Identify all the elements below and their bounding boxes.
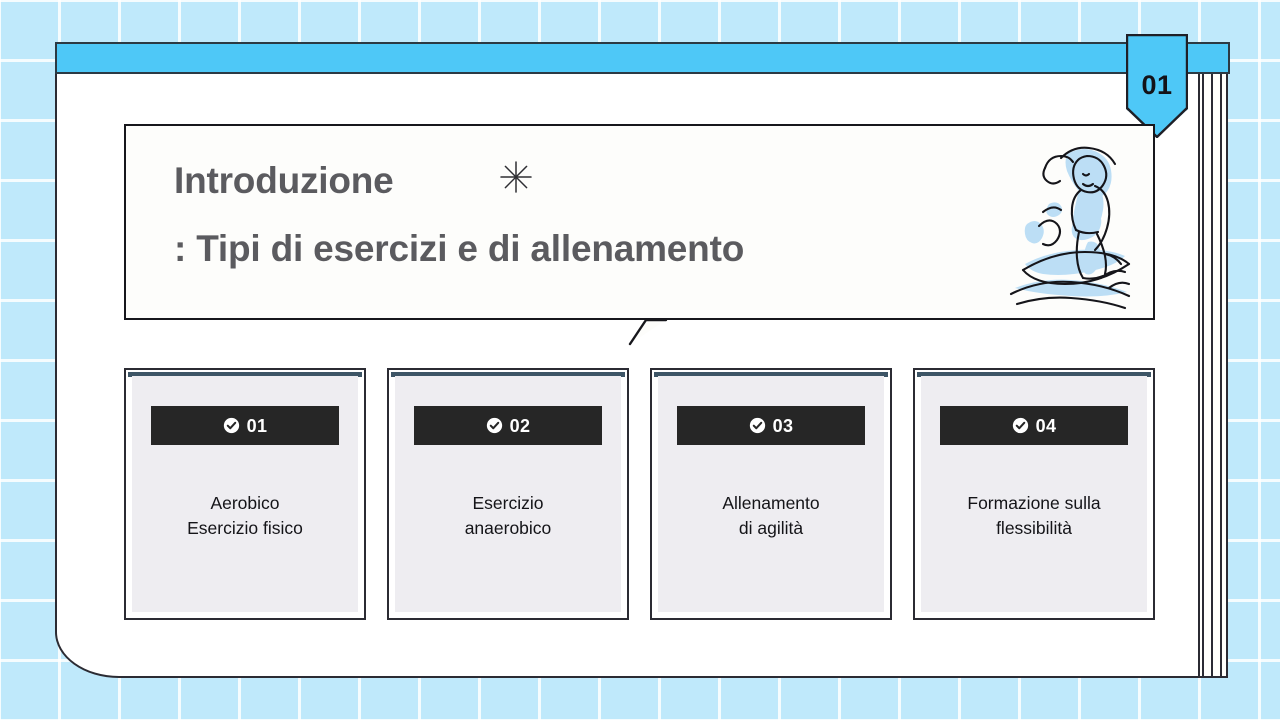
card-badge: 01 — [151, 406, 339, 445]
card-body: 02 Esercizio anaerobico — [395, 376, 621, 612]
card-item[interactable]: 01 Aerobico Esercizio fisico — [124, 368, 366, 620]
card-label-line-2: Esercizio fisico — [187, 516, 303, 541]
card-label-line-2: di agilità — [722, 516, 819, 541]
card-label: Formazione sulla flessibilità — [957, 491, 1110, 542]
card-number: 04 — [1036, 417, 1057, 435]
title-card: Introduzione : Tipi di esercizi e di all… — [124, 124, 1155, 320]
card-label-line-1: Aerobico — [187, 491, 303, 516]
cards-row: 01 Aerobico Esercizio fisico 02 — [124, 368, 1155, 620]
asterisk-icon — [499, 160, 533, 194]
card-body: 01 Aerobico Esercizio fisico — [132, 376, 358, 612]
card-item[interactable]: 04 Formazione sulla flessibilità — [913, 368, 1155, 620]
slide-canvas: 01 Introduzione : Tipi di esercizi e di … — [0, 0, 1280, 720]
card-number: 03 — [773, 417, 794, 435]
card-label-line-2: flessibilità — [967, 516, 1100, 541]
page-stack-sheet — [1220, 44, 1222, 676]
card-label-line-1: Formazione sulla — [967, 491, 1100, 516]
card-label: Esercizio anaerobico — [455, 491, 562, 542]
header-bar — [55, 42, 1230, 74]
title-line-1: Introduzione — [174, 160, 954, 203]
card-body: 04 Formazione sulla flessibilità — [921, 376, 1147, 612]
card-badge: 02 — [414, 406, 602, 445]
card-number: 02 — [510, 417, 531, 435]
card-badge: 04 — [940, 406, 1128, 445]
card-body: 03 Allenamento di agilità — [658, 376, 884, 612]
surfer-illustration — [1009, 138, 1133, 314]
title-text-block: Introduzione : Tipi di esercizi e di all… — [174, 160, 954, 270]
page-stack-sheet — [1211, 44, 1213, 676]
check-circle-icon — [223, 417, 240, 434]
card-item[interactable]: 03 Allenamento di agilità — [650, 368, 892, 620]
card-item[interactable]: 02 Esercizio anaerobico — [387, 368, 629, 620]
card-label-line-1: Esercizio — [465, 491, 552, 516]
card-number: 01 — [247, 417, 268, 435]
page-stack-sheet — [1202, 44, 1204, 676]
check-circle-icon — [1012, 417, 1029, 434]
check-circle-icon — [749, 417, 766, 434]
card-label-line-1: Allenamento — [722, 491, 819, 516]
card-label-line-2: anaerobico — [465, 516, 552, 541]
page-number-label: 01 — [1141, 72, 1172, 99]
card-label: Aerobico Esercizio fisico — [177, 491, 313, 542]
card-badge: 03 — [677, 406, 865, 445]
card-label: Allenamento di agilità — [712, 491, 829, 542]
title-line-2: : Tipi di esercizi e di allenamento — [174, 228, 954, 271]
check-circle-icon — [486, 417, 503, 434]
